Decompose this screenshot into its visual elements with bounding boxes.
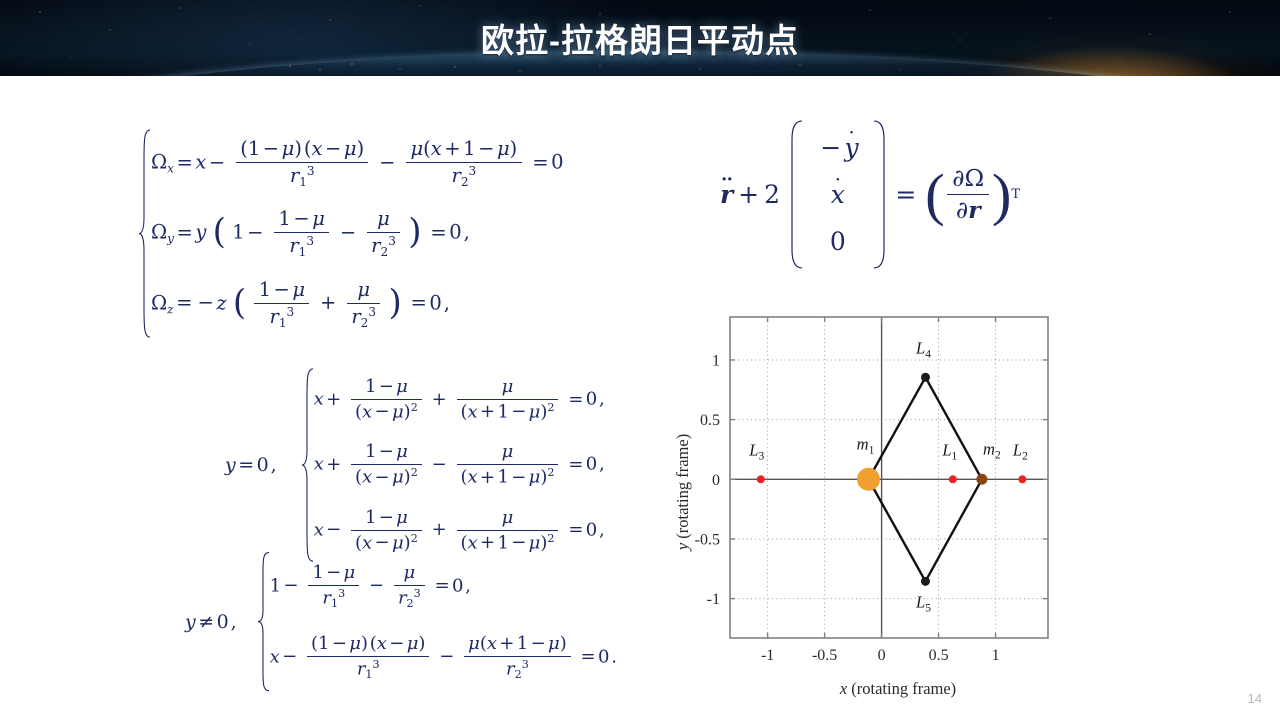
x-tick-label: 0 [878,647,886,664]
triangle-edge [925,377,981,479]
plot-point-label: m1 [857,434,875,456]
plot-point-l1 [949,475,957,483]
left-brace-icon [301,367,314,563]
plot-point-label: L3 [748,440,764,462]
triangular-equation-1: 1− 1−μ r13 − μ r23 =0 , [270,551,617,622]
left-brace-icon [257,551,270,692]
case-y-nonzero-lines: 1− 1−μ r13 − μ r23 =0 , x− (1−μ) (x−μ) r… [270,551,617,692]
partial-omega-partial-r: ∂Ω ∂r [947,164,989,225]
y-tick-label: -1 [707,591,720,608]
left-brace-icon [138,128,151,339]
plot-frame [730,317,1048,638]
x-axis-label: x (rotating frame) [839,679,956,698]
page-number: 14 [1248,691,1262,706]
case-y-nonzero-block: y≠0 , 1− 1−μ r13 − μ r23 =0 , [185,551,617,692]
x-tick-label: 1 [992,647,1000,664]
velocity-column-vector: −y x 0 [803,118,873,271]
plot-point-label: m2 [983,439,1001,461]
vector-row-minus-ydot: −y [817,124,859,171]
triangle-edge [868,479,925,581]
plot-point-l2 [1018,475,1026,483]
plot-point-label: L5 [915,592,931,614]
x-tick-label: -1 [761,647,774,664]
page-title: 欧拉-拉格朗日平动点 [0,14,1280,62]
y-tick-label: 0 [712,472,720,489]
matrix-left-bracket-icon [789,118,803,271]
plot-canvas: x (rotating frame) y (rotating frame) -1… [660,300,1080,710]
matrix-right-bracket-icon [873,118,887,271]
plot-point-m2 [976,474,987,485]
case-y-zero-label: y=0 , [225,454,277,476]
close-paren: ) [992,161,1012,228]
y-tick-label: -0.5 [695,531,720,548]
plot-point-m1 [857,468,880,491]
case-y-nonzero-label: y≠0 , [185,611,237,633]
y-tick-label: 1 [712,352,720,369]
plot-point-label: L1 [941,440,957,462]
vector-equation-of-motion: r + 2 −y x 0 = ( ∂Ω ∂r ) T [720,118,1020,271]
case-y-zero-lines: x+ 1−μ (x−μ)2 + μ (x+1−μ)2 =0 , x+ 1−μ (… [314,367,605,563]
omega-z-equation: Ωz=−z ( 1−μ r13 + μ r23 ) =0 , [151,269,564,339]
omega-equation-lines: Ωx=x− (1−μ) (x−μ) r13 − μ(x+1−μ) r23 =0 … [151,128,564,339]
case-y-zero-block: y=0 , x+ 1−μ (x−μ)2 + μ (x+1−μ)2 =0 , [225,367,605,563]
plot-point-l5 [921,577,930,586]
r-double-dot-symbol: r [720,180,733,209]
vector-row-xdot: x [831,171,845,218]
vector-row-zero: 0 [830,218,846,265]
collinear-equation-1: x+ 1−μ (x−μ)2 + μ (x+1−μ)2 =0 , [314,367,605,432]
omega-x-equation: Ωx=x− (1−μ) (x−μ) r13 − μ(x+1−μ) r23 =0 [151,128,564,198]
plot-point-label: L2 [1012,440,1028,462]
x-tick-label: -0.5 [812,647,837,664]
triangular-equation-2: x− (1−μ) (x−μ) r13 − μ(x+1−μ) r23 =0 . [270,622,617,693]
omega-y-equation: Ωy=y ( 1− 1−μ r13 − μ r23 ) =0 , [151,198,564,268]
plot-point-l3 [757,475,765,483]
triangle-edge [925,479,981,581]
triangle-edge [868,377,925,479]
open-paren: ( [925,161,945,228]
x-tick-label: 0.5 [929,647,949,664]
plot-point-l4 [921,373,930,382]
y-axis-label: y (rotating frame) [673,434,692,552]
plot-point-label: L4 [915,338,931,360]
omega-equation-system: Ωx=x− (1−μ) (x−μ) r13 − μ(x+1−μ) r23 =0 … [138,128,564,339]
y-tick-label: 0.5 [700,412,720,429]
collinear-equation-2: x+ 1−μ (x−μ)2 − μ (x+1−μ)2 =0 , [314,432,605,497]
lagrange-points-plot: x (rotating frame) y (rotating frame) -1… [660,300,1080,710]
